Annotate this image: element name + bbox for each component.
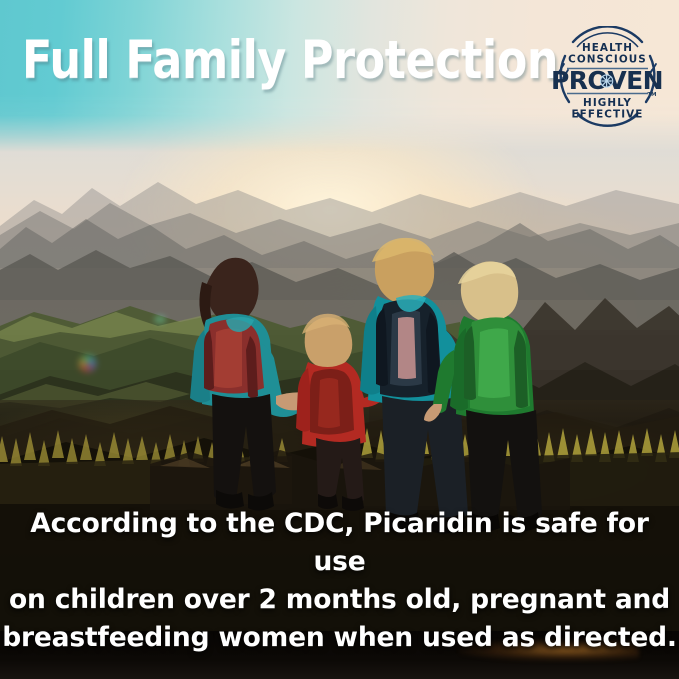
page-title: Full Family Protection (22, 34, 558, 87)
caption-line-3: breastfeeding women when used as directe… (0, 619, 679, 657)
badge-top-line-2: CONSCIOUS (568, 54, 647, 66)
caption-line-2: on children over 2 months old, pregnant … (0, 581, 679, 619)
caption-block: According to the CDC, Picaridin is safe … (0, 505, 679, 657)
badge-bottom-line-1: HIGHLY (583, 97, 632, 109)
adult-hiker (190, 258, 315, 511)
promo-image: Full Family Protection HEALT (0, 0, 679, 679)
badge-bottom-line-2: EFFECTIVE (571, 109, 643, 121)
proven-badge: HEALTH CONSCIOUS PROVEN TM HIGHLY EFFECT… (551, 26, 664, 133)
mosquito-icon (601, 75, 613, 87)
badge-top-line-1: HEALTH (582, 42, 633, 54)
caption-line-1: According to the CDC, Picaridin is safe … (0, 505, 679, 581)
badge-trademark: TM (647, 92, 656, 98)
bottom-edge-band (0, 672, 679, 679)
